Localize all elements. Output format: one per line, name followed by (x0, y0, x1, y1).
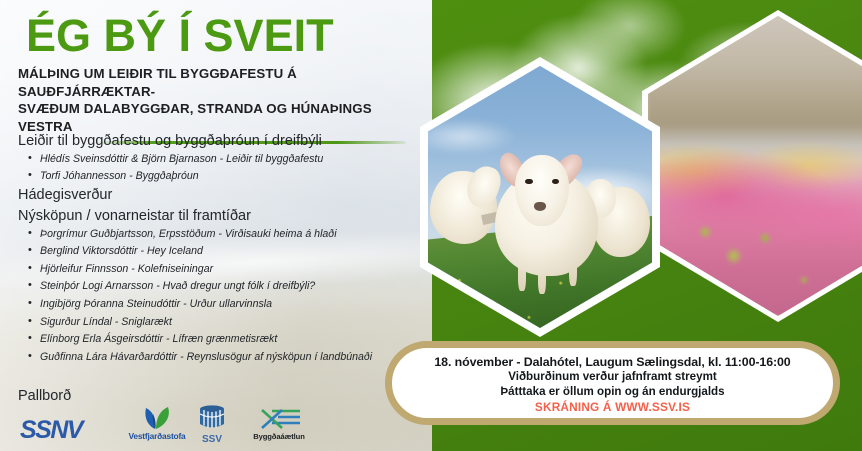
logo-ssv: SSV (186, 405, 238, 445)
sheep-photo-cloud-2 (428, 118, 518, 155)
sheep-nose (534, 202, 545, 211)
poster-subtitle: MÁLÞING UM LEIÐIR TIL BYGGÐAFESTU Á SAUÐ… (18, 65, 422, 135)
event-info-box: 18. nóvember - Dalahótel, Laugum Sælings… (385, 341, 840, 425)
logo-byggdaaaetlun: Byggðaáætlun (238, 408, 320, 441)
logo-row: SSNV Vestfjarðastofa (14, 404, 314, 451)
ssnv-wordmark-icon: SSNV (20, 416, 82, 445)
ssv-barrel-icon (186, 405, 238, 431)
list-item: Sigurður Líndal - Sniglarækt (40, 317, 428, 328)
sheep-eye-left (525, 179, 532, 185)
event-registration-link[interactable]: SKRÁNING Á WWW.SSV.IS (410, 400, 815, 415)
sheep-center-head (515, 155, 569, 226)
logo-ssnv: SSNV (20, 416, 82, 445)
poster-subtitle-line-1: MÁLÞING UM LEIÐIR TIL BYGGÐAFESTU Á SAUÐ… (18, 65, 422, 100)
event-datetime-location: 18. nóvember - Dalahótel, Laugum Sælings… (410, 355, 815, 370)
list-item: Hlédís Sveinsdóttir & Björn Bjarnason - … (40, 154, 428, 165)
list-item: Guðfinna Lára Hávarðardóttir - Reynslusö… (40, 352, 428, 363)
program-section-3-talks: Þorgrímur Guðbjartsson, Erpsstöðum - Vir… (18, 229, 428, 363)
headline-block: ÉG BÝ Í SVEIT MÁLÞING UM LEIÐIR TIL BYGG… (18, 12, 422, 144)
ssv-label: SSV (186, 434, 238, 445)
program-section-1-talks: Hlédís Sveinsdóttir & Björn Bjarnason - … (18, 154, 428, 182)
list-item: Torfi Jóhannesson - Byggðaþróun (40, 171, 428, 182)
list-item: Steinþór Logi Arnarsson - Hvað dregur un… (40, 281, 428, 292)
poster-title: ÉG BÝ Í SVEIT (26, 12, 422, 59)
program-section-3-title: Nýsköpun / vonarneistar til framtíðar (18, 209, 428, 224)
program-list: Leiðir til byggðafestu og byggðaþróun í … (18, 134, 428, 369)
event-free-note: Þátttaka er öllum opin og án endurgjalds (410, 385, 815, 400)
byggdaaaetlun-arrow-icon (238, 408, 320, 430)
list-item: Hjörleifur Finnsson - Kolefniseiningar (40, 264, 428, 275)
list-item: Þorgrímur Guðbjartsson, Erpsstöðum - Vir… (40, 229, 428, 240)
list-item: Ingibjörg Þóranna Steinudóttir - Urður u… (40, 299, 428, 310)
list-item: Berglind Viktorsdóttir - Hey Iceland (40, 246, 428, 257)
poster: ÉG BÝ Í SVEIT MÁLÞING UM LEIÐIR TIL BYGG… (0, 0, 862, 451)
program-section-2-title: Hádegisverður (18, 188, 428, 203)
byggdaaaetlun-label: Byggðaáætlun (238, 432, 320, 441)
program-section-1-title: Leiðir til byggðafestu og byggðaþróun í … (18, 134, 428, 149)
event-streaming-note: Viðburðinum verður jafnframt streymt (410, 370, 815, 385)
program-section-4-title: Pallborð (18, 388, 71, 404)
poster-subtitle-line-2: SVÆÐUM DALABYGGÐAR, STRANDA OG HÚNAÞINGS… (18, 100, 422, 135)
list-item: Elínborg Erla Ásgeirsdóttir - Lífræn græ… (40, 334, 428, 345)
